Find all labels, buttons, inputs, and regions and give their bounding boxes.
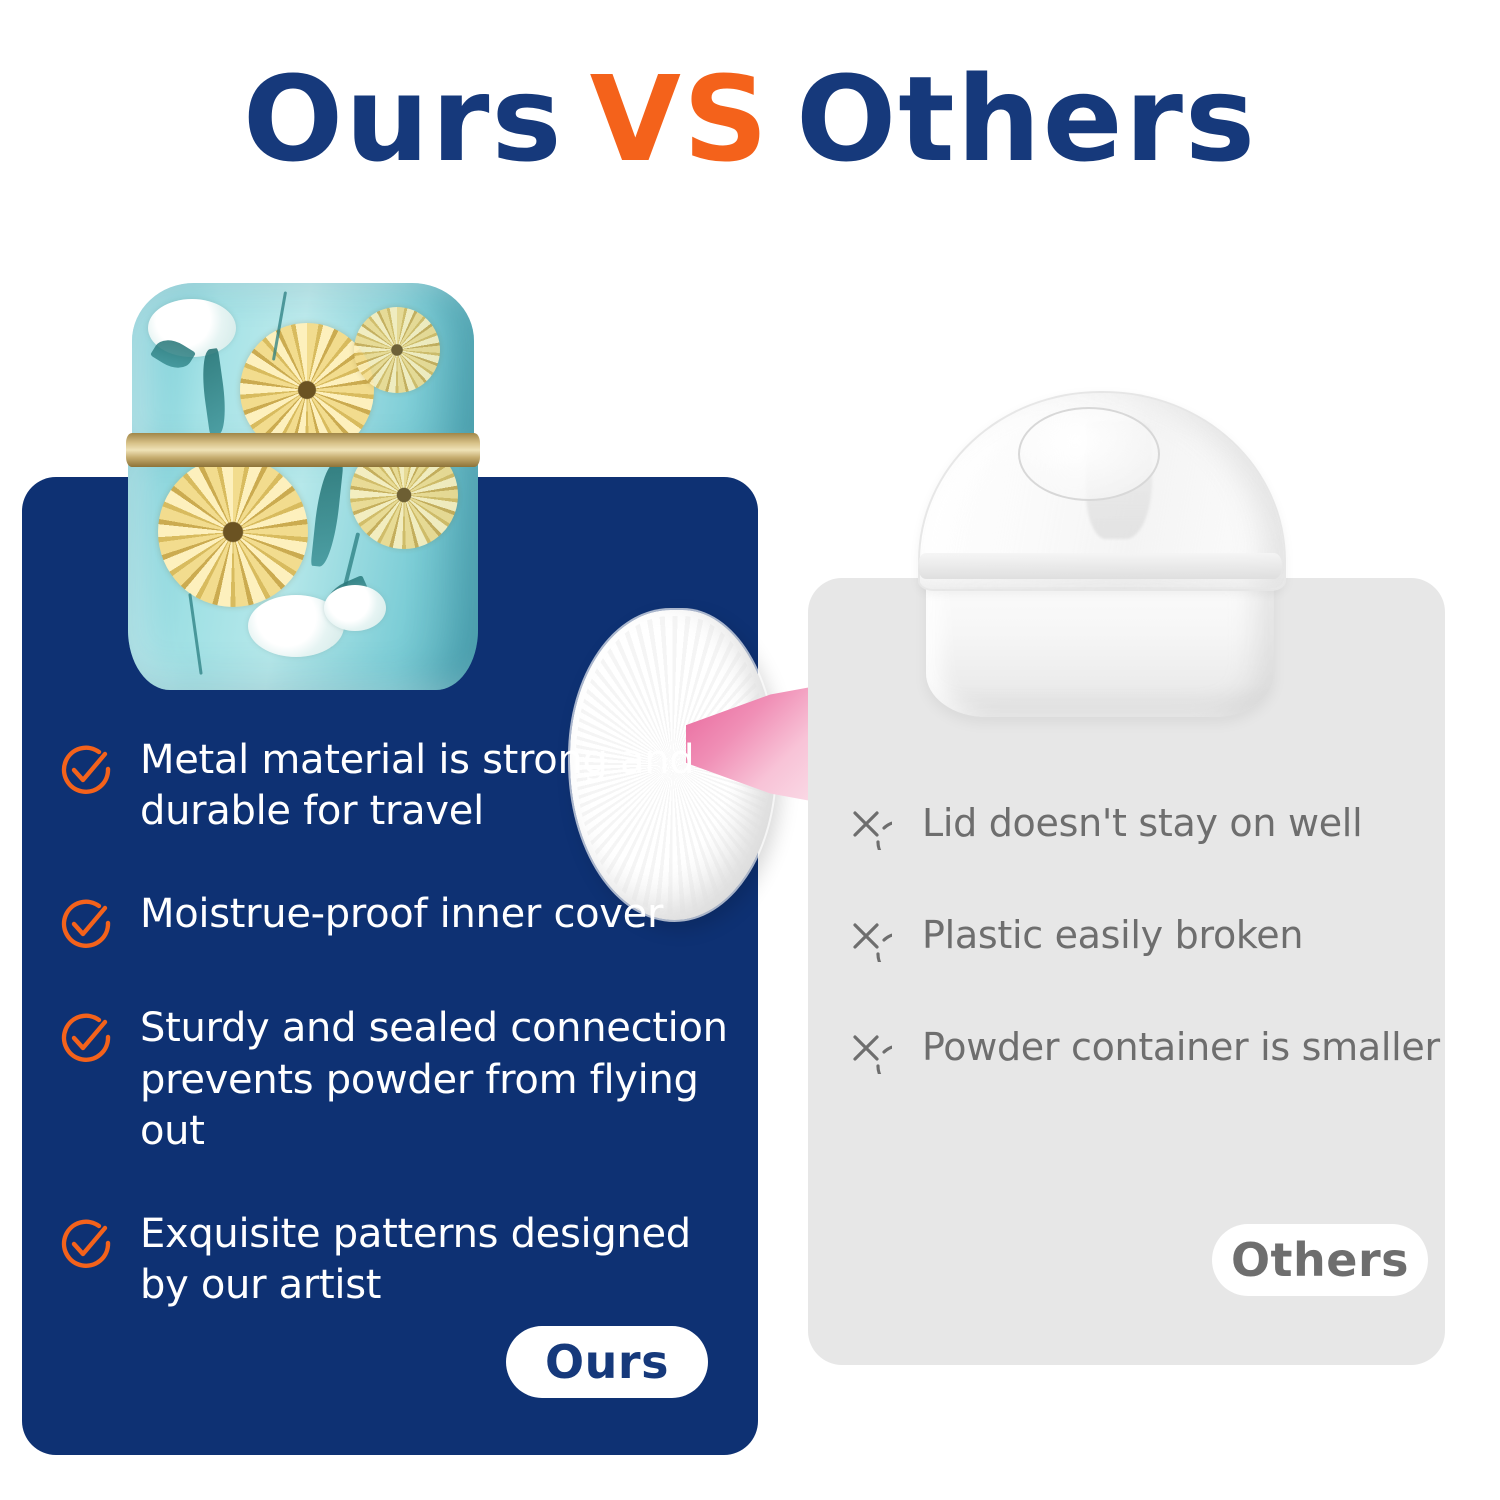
list-item-label: Lid doesn't stay on well (922, 800, 1362, 848)
check-circle-icon (58, 741, 114, 797)
check-circle-icon (58, 1215, 114, 1271)
list-item: Moistrue-proof inner cover (58, 889, 748, 951)
x-circle-icon (840, 798, 892, 850)
x-circle-icon (840, 1022, 892, 1074)
plastic-dome-rim (918, 553, 1282, 579)
list-item: Powder container is smaller (840, 1022, 1440, 1074)
list-item-label: Sturdy and sealed connection prevents po… (140, 1003, 748, 1157)
list-item-label: Moistrue-proof inner cover (140, 889, 663, 940)
leaf (198, 348, 230, 436)
title-vs-word: VS (590, 50, 770, 188)
check-circle-icon (58, 1009, 114, 1065)
list-item-label: Powder container is smaller (922, 1024, 1440, 1072)
flower-white (324, 585, 386, 631)
title-ours-word: Ours (243, 50, 564, 188)
others-drawback-list: Lid doesn't stay on well Plastic easily … (840, 798, 1440, 1074)
check-circle-icon (58, 895, 114, 951)
list-item: Exquisite patterns designed by our artis… (58, 1209, 748, 1311)
list-item: Plastic easily broken (840, 910, 1440, 962)
x-circle-icon (840, 910, 892, 962)
tin-gold-band (126, 433, 480, 467)
stem (188, 593, 202, 675)
ours-badge: Ours (506, 1326, 708, 1398)
page-title: OursVSOthers (0, 60, 1500, 178)
ours-feature-list: Metal material is strong and durable for… (58, 735, 748, 1311)
list-item-label: Metal material is strong and durable for… (140, 735, 748, 837)
title-others-word: Others (796, 50, 1257, 188)
plastic-lid-knob (1018, 407, 1160, 501)
flower-yellow (158, 457, 308, 607)
others-badge: Others (1212, 1224, 1428, 1296)
tin-body (128, 435, 478, 690)
leaf (311, 462, 344, 568)
list-item: Metal material is strong and durable for… (58, 735, 748, 837)
tin-lid (132, 283, 474, 458)
list-item: Sturdy and sealed connection prevents po… (58, 1003, 748, 1157)
list-item-label: Plastic easily broken (922, 912, 1303, 960)
ours-product-image (118, 265, 718, 685)
flower-yellow (354, 307, 440, 393)
others-product-image (900, 385, 1300, 730)
list-item: Lid doesn't stay on well (840, 798, 1440, 850)
list-item-label: Exquisite patterns designed by our artis… (140, 1209, 748, 1311)
